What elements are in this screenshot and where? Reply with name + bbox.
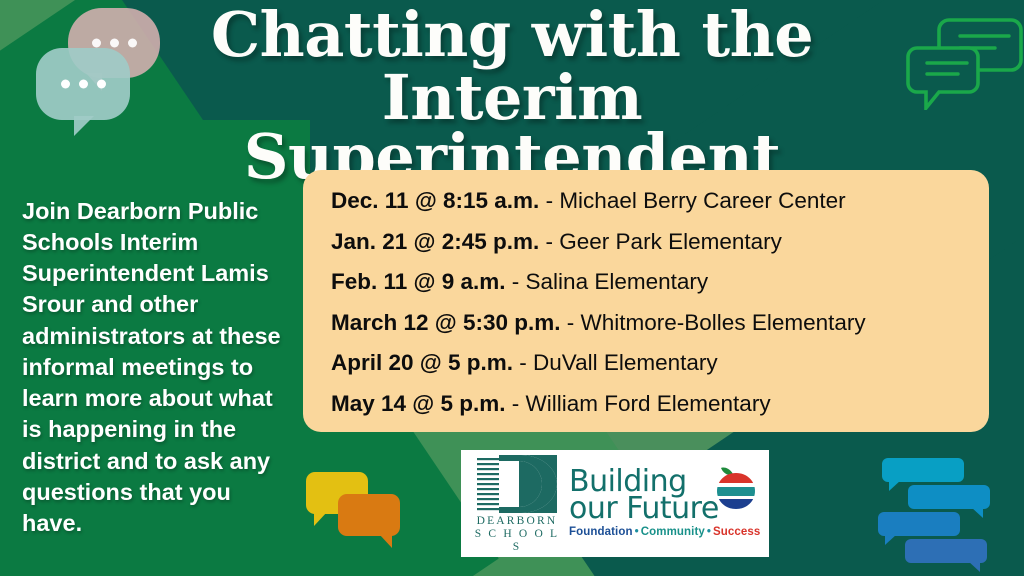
schedule-item: May 14 @ 5 p.m. - William Ford Elementar… <box>303 393 989 416</box>
chat-bubble-bar-blue-dark-icon <box>878 512 960 536</box>
schedule-item-datetime: Jan. 21 @ 2:45 p.m. <box>331 229 539 254</box>
schedule-item: Jan. 21 @ 2:45 p.m. - Geer Park Elementa… <box>303 231 989 254</box>
schedule-list: Dec. 11 @ 8:15 a.m. - Michael Berry Care… <box>303 190 989 415</box>
chat-bubble-orange-icon <box>338 494 400 536</box>
campaign-tagline: Foundation•Community•Success <box>569 526 761 538</box>
schedule-item-location: Geer Park Elementary <box>559 229 782 254</box>
campaign-line-2: our Future <box>569 496 719 522</box>
schedule-item-datetime: May 14 @ 5 p.m. <box>331 391 506 416</box>
schedule-item-separator: - <box>506 391 526 416</box>
flyer-canvas: Chatting with the Interim Superintendent… <box>0 0 1024 576</box>
schedule-item: March 12 @ 5:30 p.m. - Whitmore-Bolles E… <box>303 312 989 335</box>
schedule-item-separator: - <box>513 350 533 375</box>
schedule-item-location: DuVall Elementary <box>533 350 718 375</box>
dearborn-schools-wordmark: DEARBORN S C H O O L S <box>469 515 565 555</box>
flyer-title: Chatting with the Interim Superintendent <box>0 6 1024 187</box>
tagline-foundation: Foundation <box>569 526 633 538</box>
schedule-item-datetime: March 12 @ 5:30 p.m. <box>331 310 561 335</box>
chat-bubble-bar-blue-icon <box>908 485 990 509</box>
chat-bubble-bar-indigo-icon <box>905 539 987 563</box>
district-name-line2: S C H O O L S <box>475 528 560 553</box>
schedule-item-separator: - <box>539 188 559 213</box>
district-name-line1: DEARBORN <box>477 515 558 527</box>
schedule-item-datetime: Feb. 11 @ 9 a.m. <box>331 269 506 294</box>
chat-bubble-bar-cyan-icon <box>882 458 964 482</box>
tagline-community: Community <box>641 526 705 538</box>
title-line-2: Interim Superintendent <box>120 69 904 187</box>
tagline-separator: • <box>633 526 641 538</box>
logo-lockup: DEARBORN S C H O O L S Building our Futu… <box>461 450 769 557</box>
dearborn-d-mark-icon <box>475 453 559 515</box>
schedule-item-datetime: Dec. 11 @ 8:15 a.m. <box>331 188 539 213</box>
schedule-item-separator: - <box>506 269 526 294</box>
schedule-item-datetime: April 20 @ 5 p.m. <box>331 350 513 375</box>
schedule-item: Feb. 11 @ 9 a.m. - Salina Elementary <box>303 271 989 294</box>
campaign-wordmark: Building our Future <box>569 469 719 522</box>
schedule-item-separator: - <box>561 310 581 335</box>
dearborn-schools-logo: DEARBORN S C H O O L S <box>469 453 565 555</box>
schedule-item-location: Michael Berry Career Center <box>559 188 845 213</box>
schedule-item-location: Salina Elementary <box>526 269 709 294</box>
flyer-description: Join Dearborn Public Schools Interim Sup… <box>22 196 294 540</box>
schedule-card: Dec. 11 @ 8:15 a.m. - Michael Berry Care… <box>303 170 989 432</box>
tagline-success: Success <box>713 526 760 538</box>
schedule-item: April 20 @ 5 p.m. - DuVall Elementary <box>303 352 989 375</box>
schedule-item-separator: - <box>539 229 559 254</box>
schedule-item-location: William Ford Elementary <box>526 391 771 416</box>
building-our-future-logo: Building our Future <box>565 453 761 555</box>
schedule-item: Dec. 11 @ 8:15 a.m. - Michael Berry Care… <box>303 190 989 213</box>
schedule-item-location: Whitmore-Bolles Elementary <box>581 310 866 335</box>
tagline-separator: • <box>705 526 713 538</box>
apple-icon <box>715 465 757 511</box>
